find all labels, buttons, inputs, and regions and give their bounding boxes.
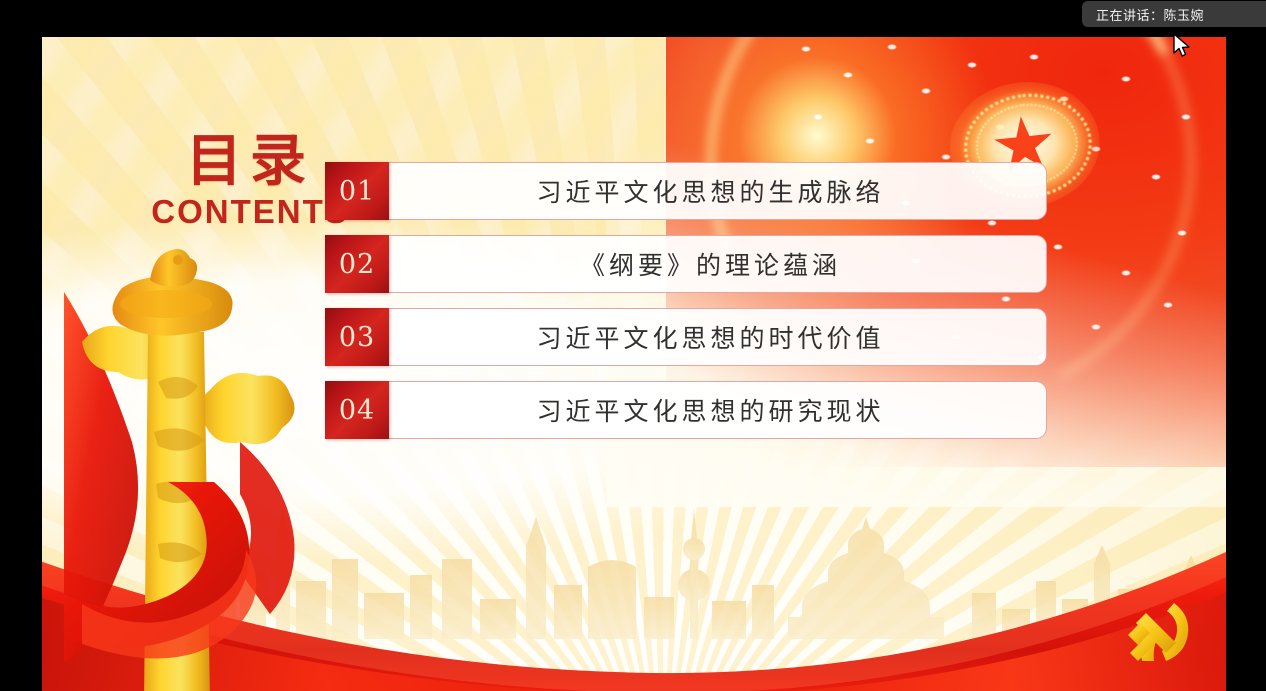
- contents-list: 01 习近平文化思想的生成脉络 02 《纲要》的理论蕴涵 03: [325, 162, 1047, 454]
- letterbox-top: [0, 0, 1266, 37]
- letterbox-left: [0, 0, 42, 691]
- item-label-01: 习近平文化思想的生成脉络: [536, 173, 884, 209]
- presentation-slide: 目录 CONTENTS 01 习近平文化思想的生成脉络 02 《纲要》的理论蕴涵: [42, 37, 1226, 691]
- contents-item-01[interactable]: 01 习近平文化思想的生成脉络: [325, 162, 1047, 220]
- item-number-03: 03: [339, 324, 375, 351]
- item-box-03[interactable]: 习近平文化思想的时代价值: [387, 308, 1047, 366]
- item-label-02: 《纲要》的理论蕴涵: [580, 246, 841, 282]
- item-number-badge-01: 01: [325, 162, 389, 220]
- letterbox-right: [1226, 0, 1266, 691]
- contents-item-03[interactable]: 03 习近平文化思想的时代价值: [325, 308, 1047, 366]
- item-number-badge-04: 04: [325, 381, 389, 439]
- speaker-status-badge: 正在讲话：陈玉婉: [1082, 1, 1266, 27]
- item-number-01: 01: [339, 178, 375, 205]
- item-label-03: 习近平文化思想的时代价值: [536, 319, 884, 355]
- hammer-and-sickle-icon: [1112, 595, 1204, 673]
- item-box-02[interactable]: 《纲要》的理论蕴涵: [387, 235, 1047, 293]
- contents-item-04[interactable]: 04 习近平文化思想的研究现状: [325, 381, 1047, 439]
- huabiao-column-decoration: [62, 232, 342, 691]
- item-box-04[interactable]: 习近平文化思想的研究现状: [387, 381, 1047, 439]
- speaker-status-text: 正在讲话：陈玉婉: [1082, 5, 1204, 24]
- contents-item-02[interactable]: 02 《纲要》的理论蕴涵: [325, 235, 1047, 293]
- item-number-badge-03: 03: [325, 308, 389, 366]
- screen: 目录 CONTENTS 01 习近平文化思想的生成脉络 02 《纲要》的理论蕴涵: [0, 0, 1266, 691]
- item-box-01[interactable]: 习近平文化思想的生成脉络: [387, 162, 1047, 220]
- item-number-badge-02: 02: [325, 235, 389, 293]
- item-number-02: 02: [339, 251, 375, 278]
- item-number-04: 04: [339, 397, 375, 424]
- item-label-04: 习近平文化思想的研究现状: [536, 392, 884, 428]
